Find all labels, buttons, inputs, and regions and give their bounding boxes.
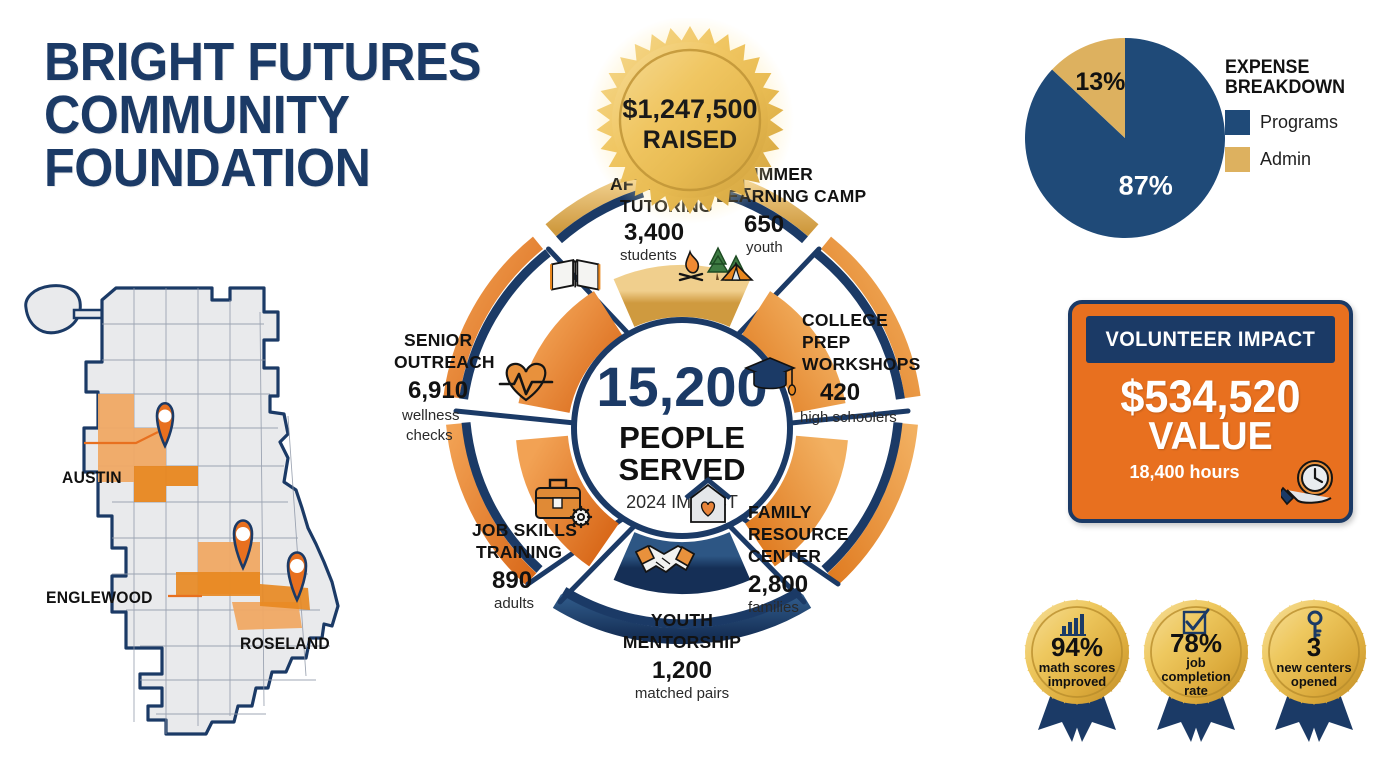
- segment-unit: adults: [494, 595, 534, 612]
- achievement-badges[interactable]: 94% math scores improved 78% job complet…: [1020, 588, 1372, 748]
- hub-label-line2: SERVED: [619, 452, 746, 487]
- badge-value: 94%: [1051, 632, 1103, 662]
- map-label-roseland: ROSELAND: [240, 634, 330, 654]
- badge-value: 3: [1307, 632, 1321, 662]
- open-book-icon: [550, 260, 600, 289]
- seal-amount: $1,247,500: [622, 94, 757, 124]
- legend-label-programs: Programs: [1260, 112, 1338, 133]
- expense-legend: EXPENSE BREAKDOWN Programs Admin: [1225, 58, 1375, 172]
- hand-holding-clock-icon: [1281, 456, 1343, 515]
- volunteer-impact-header: VOLUNTEER IMPACT: [1086, 316, 1335, 363]
- segment-unit: matched pairs: [635, 685, 729, 702]
- segment-title: CENTER: [748, 546, 821, 566]
- segment-title: WORKSHOPS: [802, 354, 920, 374]
- segment-value: 1,200: [652, 657, 712, 684]
- map-label-austin: AUSTIN: [62, 468, 122, 488]
- achievement-badge-math-scores[interactable]: 94% math scores improved: [1024, 599, 1129, 742]
- segment-title: SENIOR: [404, 330, 472, 350]
- title-line-1: BRIGHT FUTURES: [44, 36, 444, 89]
- achievement-badge-job-completion[interactable]: 78% job completion rate: [1143, 599, 1248, 742]
- segment-title: RESOURCE: [748, 524, 849, 544]
- segment-title: OUTREACH: [394, 352, 495, 372]
- badge-label: completion: [1161, 669, 1230, 684]
- legend-title-line2: BREAKDOWN: [1225, 78, 1366, 98]
- segment-unit: students: [620, 247, 677, 264]
- legend-swatch-admin: [1225, 147, 1250, 172]
- badge-label: new centers: [1276, 660, 1351, 675]
- segment-title: MENTORSHIP: [623, 632, 741, 652]
- segment-value: 2,800: [748, 571, 808, 598]
- pie-label-admin: 13%: [1075, 68, 1125, 96]
- service-area-map[interactable]: [16, 276, 386, 746]
- badge-label: job: [1185, 655, 1206, 670]
- legend-swatch-programs: [1225, 110, 1250, 135]
- volunteer-value-label: VALUE: [1078, 418, 1344, 455]
- map-label-englewood: ENGLEWOOD: [46, 588, 153, 608]
- seal-label: RAISED: [643, 126, 737, 154]
- badge-label: opened: [1291, 674, 1337, 689]
- segment-title: COLLEGE: [802, 310, 888, 330]
- segment-unit: high schoolers: [800, 409, 897, 426]
- segment-title: PREP: [802, 332, 851, 352]
- badge-value: 78%: [1170, 628, 1222, 658]
- segment-unit: families: [748, 599, 799, 616]
- segment-title: JOB SKILLS: [472, 520, 577, 540]
- segment-unit: youth: [746, 239, 783, 256]
- segment-title: TRAINING: [476, 542, 562, 562]
- pie-label-programs: 87%: [1119, 171, 1173, 201]
- volunteer-impact-card[interactable]: VOLUNTEER IMPACT $534,520 VALUE 18,400 h…: [1068, 300, 1353, 523]
- legend-title-line1: EXPENSE: [1225, 58, 1366, 78]
- achievement-badge-new-centers[interactable]: 3 new centers opened: [1261, 599, 1366, 742]
- hub-number: 15,200: [596, 355, 767, 418]
- segment-unit: wellness: [401, 407, 460, 424]
- legend-row-admin[interactable]: Admin: [1225, 147, 1375, 172]
- segment-title: YOUTH: [651, 610, 713, 630]
- segment-value: 890: [492, 567, 532, 594]
- hub-label-line1: PEOPLE: [619, 420, 745, 455]
- volunteer-amount: $534,520: [1078, 375, 1344, 418]
- infographic-canvas: BRIGHT FUTURES COMMUNITY FOUNDATION: [0, 0, 1376, 768]
- legend-label-admin: Admin: [1260, 149, 1311, 170]
- badge-label: math scores: [1039, 660, 1116, 675]
- volunteer-impact-title: VOLUNTEER IMPACT: [1106, 328, 1316, 352]
- segment-unit: checks: [406, 427, 453, 444]
- badge-label: rate: [1184, 683, 1208, 698]
- map-landmass: [26, 286, 338, 734]
- segment-title: FAMILY: [748, 502, 812, 522]
- segment-value: 420: [820, 379, 860, 406]
- legend-row-programs[interactable]: Programs: [1225, 110, 1375, 135]
- segment-value: 6,910: [408, 377, 468, 404]
- badge-label: improved: [1048, 674, 1107, 689]
- funds-raised-seal[interactable]: $1,247,500 RAISED: [578, 18, 802, 228]
